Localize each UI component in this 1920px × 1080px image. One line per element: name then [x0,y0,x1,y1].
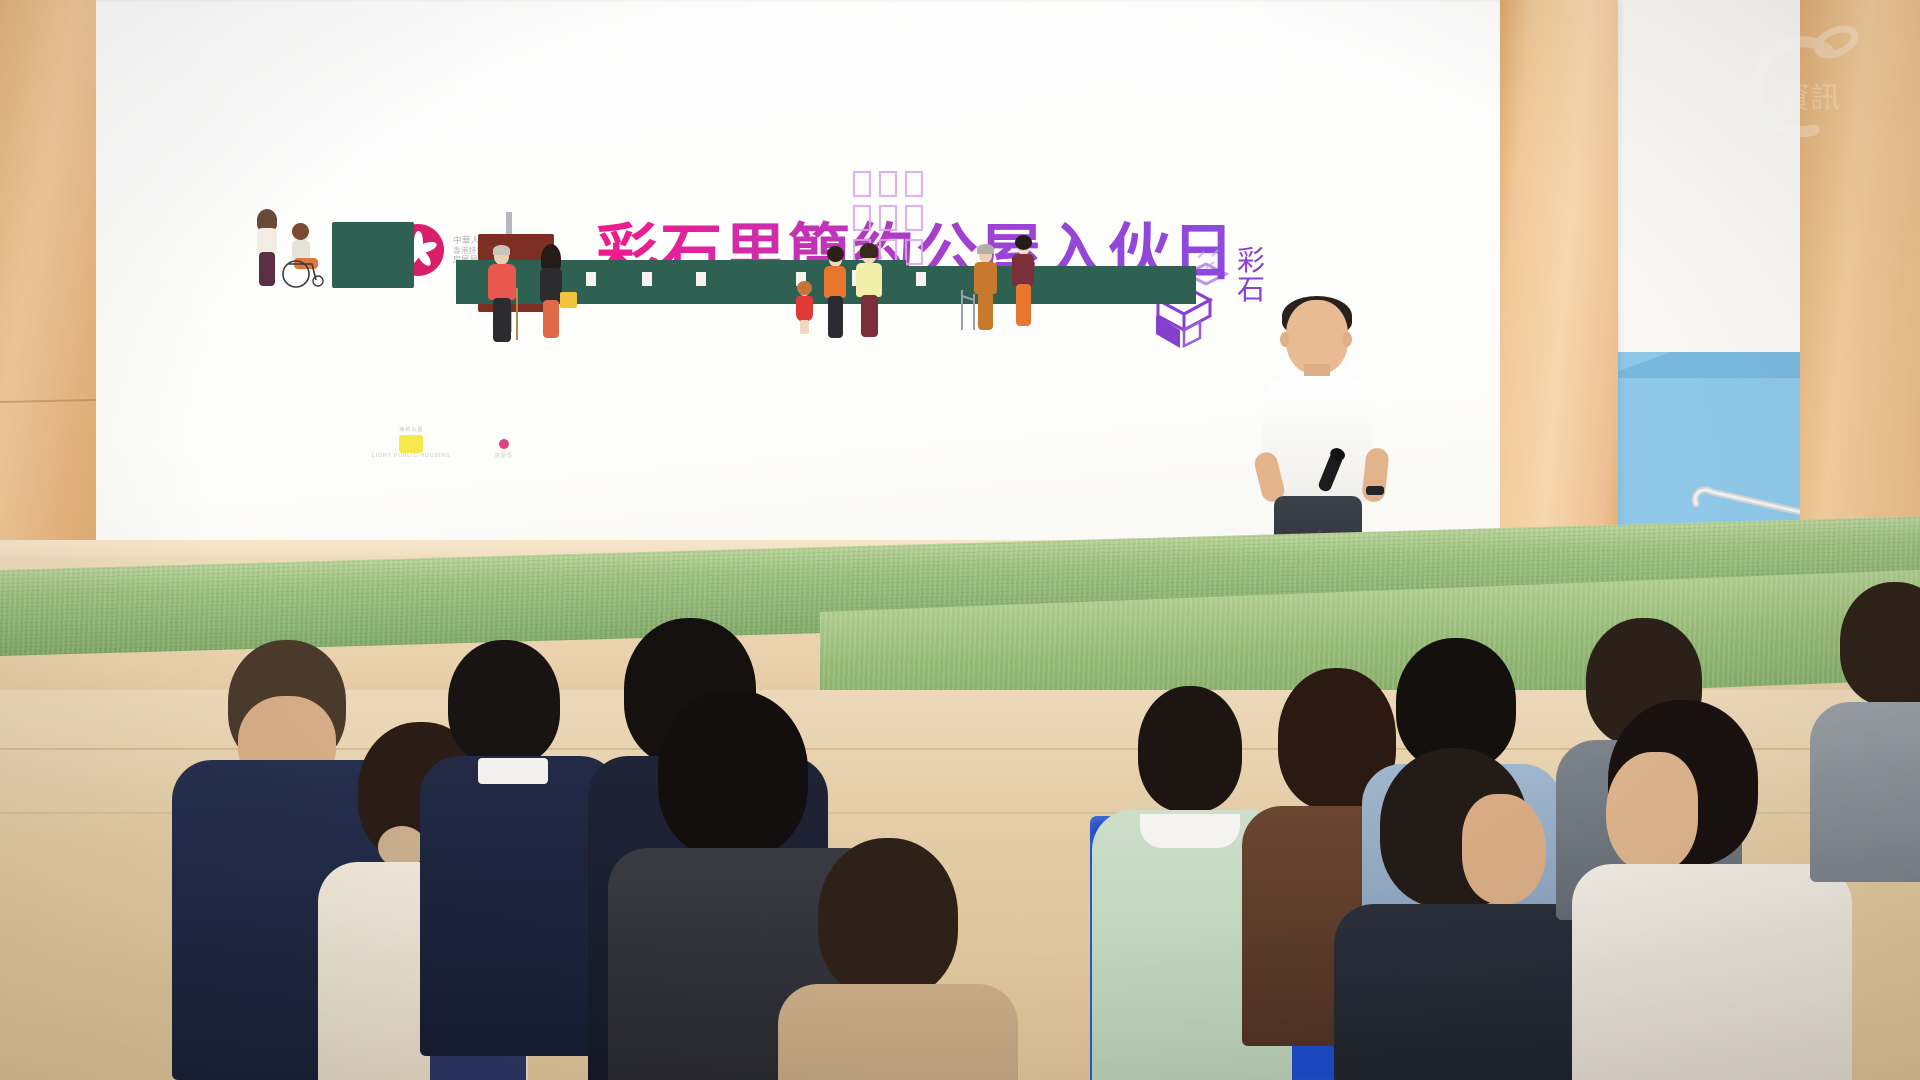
speaker-wristwatch [1366,486,1384,495]
sponsor-light-public-housing: 簡約公屋 LIGHT PUBLIC HOUSING [372,426,451,459]
green-building-left [332,222,414,288]
sponsor-0-sub: LIGHT PUBLIC HOUSING [372,453,451,459]
shoulders [778,984,1018,1080]
screenshot-root: 中華人民共和國 香港特別行政區政府 房屋局 彩石里簡約公屋入伙日 [0,0,1920,1080]
face [1462,794,1546,904]
shoulders [1572,864,1852,1080]
green-building-band-right [896,266,1196,304]
speaker-ear-left [1280,332,1290,347]
head [658,690,808,858]
walker-icon [958,288,982,332]
lace-collar [1140,814,1240,848]
window-c [642,272,652,286]
shoulders [1810,702,1920,882]
window-g [916,272,926,286]
speaker-ear-right [1342,332,1352,347]
sponsor-0-caption: 簡約公屋 [372,426,451,433]
sponsor-row: 簡約公屋 LIGHT PUBLIC HOUSING 房屋局 [372,426,513,459]
sponsor-1-sub: 房屋局 [495,452,513,459]
collar [478,758,548,784]
window-b [586,272,596,286]
head [448,640,560,766]
face [1606,752,1698,872]
sponsor-1-mark-icon [499,439,509,449]
broadcaster-watermark: 資訊 [1740,26,1868,148]
sponsor-housing-bureau: 房屋局 [495,439,513,459]
speaker-head [1286,300,1348,374]
watermark-characters: 資訊 [1780,81,1840,116]
sponsor-0-mark-icon [399,435,423,453]
head [818,838,958,998]
wheelchair-icon [282,254,332,288]
speaker-on-stage [1248,300,1398,570]
shoulders [1334,904,1594,1080]
head [1138,686,1242,812]
banner-illustration [256,192,1256,422]
window-d [696,272,706,286]
